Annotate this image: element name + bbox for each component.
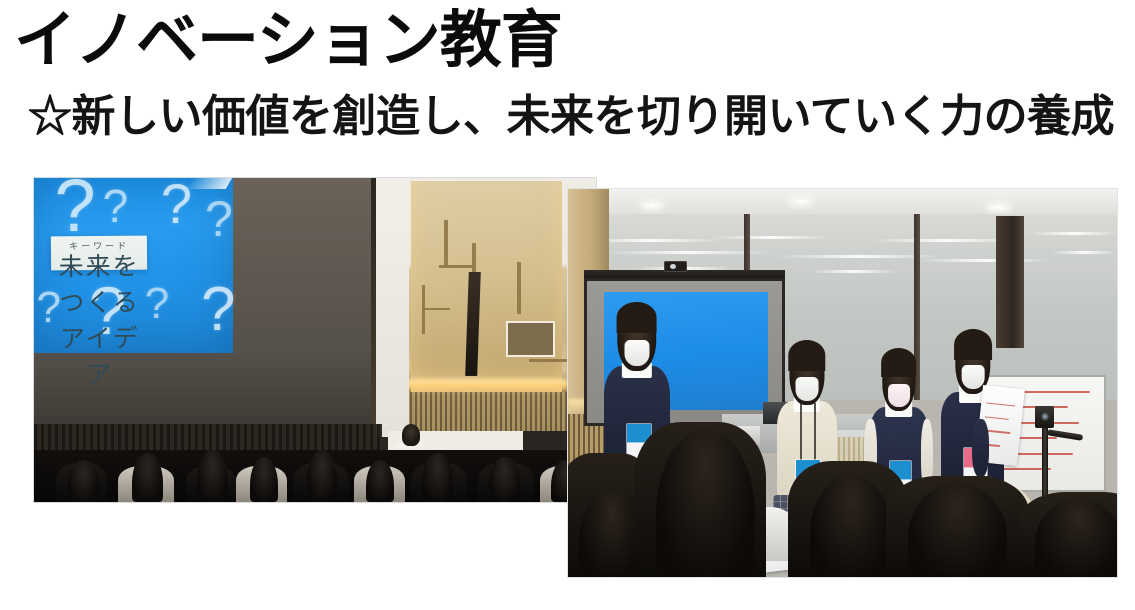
glass-reflection (1029, 232, 1117, 235)
audience-member-head (197, 450, 228, 502)
photo-classroom-presentation (567, 188, 1118, 578)
lanyard (800, 403, 802, 459)
audience-member-head (68, 460, 99, 502)
face-mask (624, 340, 649, 366)
photo-auditorium-presentation: ? ? ? ? ? ? ? ? キーワード 未来をつくるアイデア (33, 177, 597, 503)
wall-frame-art (506, 321, 555, 357)
student-hair (954, 329, 992, 361)
wall-stick-decor (444, 220, 447, 265)
lanyard (814, 403, 816, 459)
projected-headline: 未来をつくるアイデア (50, 247, 148, 392)
auditorium-scene: ? ? ? ? ? ? ? ? キーワード 未来をつくるアイデア (34, 178, 596, 502)
face-mask (888, 384, 910, 407)
question-mark-icon: ? (55, 177, 96, 243)
student-hair (788, 340, 825, 370)
screen-glare (186, 178, 232, 189)
standing-presenter-head (402, 424, 419, 445)
face-mask (962, 365, 985, 390)
wall-slats (405, 392, 568, 431)
wall-stick-decor (422, 308, 450, 310)
glass-reflection (711, 236, 832, 239)
wall-uplight (405, 379, 568, 392)
ceiling-downlight (985, 203, 1011, 212)
ceiling-downlight (639, 201, 665, 210)
white-wall-segment (376, 178, 410, 437)
page-title: イノベーション教育 (14, 6, 562, 75)
glass-reflection (919, 259, 1051, 262)
question-mark-icon: ? (201, 279, 235, 341)
paper-writing (986, 402, 1015, 407)
paper-writing (985, 416, 1009, 420)
wall-stick-decor (439, 265, 473, 267)
glass-reflection (1051, 251, 1117, 254)
audience-member-head (366, 460, 394, 502)
student-hair (616, 302, 657, 333)
audience-member-head (1035, 499, 1118, 577)
tripod-pole (1042, 426, 1047, 500)
audience-member-head (422, 453, 453, 502)
wall-stick-decor (517, 262, 520, 314)
face-mask (795, 377, 818, 401)
student-arm (972, 419, 990, 478)
projected-slide: ? ? ? ? ? ? ? ? キーワード 未来をつくるアイデア (33, 177, 233, 353)
student-hair (881, 348, 917, 377)
audience-member-head (810, 476, 892, 577)
wall-stick-decor (529, 359, 568, 362)
question-mark-icon: ? (103, 183, 129, 229)
question-mark-icon: ? (145, 282, 169, 326)
projected-keyword-band: キーワード 未来をつくるアイデア (50, 236, 147, 271)
wood-panel (411, 181, 563, 395)
question-mark-icon: ? (205, 194, 233, 244)
page-subtitle: ☆新しい価値を創造し、未来を切り開いていく力の養成 (28, 92, 1114, 143)
projection-screen-housing: ? ? ? ? ? ? ? ? キーワード 未来をつくるアイデア (33, 177, 371, 427)
ceiling-downlight (788, 197, 814, 206)
classroom-scene (568, 189, 1117, 577)
